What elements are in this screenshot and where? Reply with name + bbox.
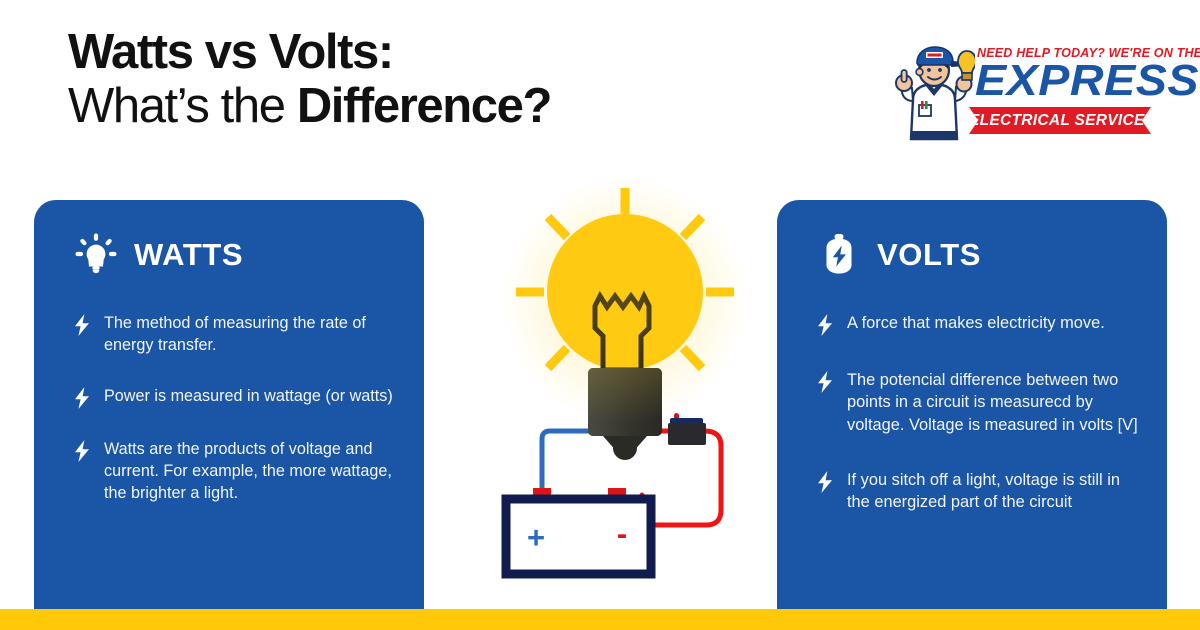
- panel-volts-header: VOLTS: [817, 232, 981, 276]
- title-line-2: What’s the Difference?: [68, 82, 728, 132]
- bolt-icon: [815, 371, 835, 393]
- list-item: The potencial difference between two poi…: [815, 369, 1145, 436]
- panel-watts-bullets: The method of measuring the rate of ener…: [72, 312, 402, 533]
- list-item-text: The potencial difference between two poi…: [847, 369, 1145, 436]
- switch: [668, 413, 706, 445]
- logo-brand-name: EXPRESS: [975, 59, 1199, 103]
- panel-volts-bullets: A force that makes electricity move. The…: [815, 312, 1145, 547]
- list-item: If you sitch off a light, voltage is sti…: [815, 469, 1145, 514]
- list-item: Power is measured in wattage (or watts): [72, 385, 402, 409]
- battery-minus-label: -: [617, 516, 627, 551]
- panel-volts-title: VOLTS: [877, 239, 981, 270]
- list-item-text: The method of measuring the rate of ener…: [104, 312, 402, 356]
- logo-ribbon: ELECTRICAL SERVICES: [969, 107, 1151, 134]
- list-item-text: Power is measured in wattage (or watts): [104, 385, 393, 407]
- bulb-glow: [500, 175, 750, 425]
- bolt-icon: [72, 440, 92, 462]
- lightbulb-circuit-illustration: + -: [440, 170, 770, 620]
- list-item: Watts are the products of voltage and cu…: [72, 438, 402, 504]
- bolt-icon: [72, 387, 92, 409]
- title-line-2-bold: Difference?: [297, 79, 551, 133]
- list-item-text: If you sitch off a light, voltage is sti…: [847, 469, 1145, 514]
- electrician-mascot-icon: [893, 43, 975, 143]
- bottom-accent-bar: [0, 609, 1200, 630]
- title-line-1: Watts vs Volts:: [68, 28, 728, 78]
- list-item-text: Watts are the products of voltage and cu…: [104, 438, 402, 504]
- panel-watts-title: WATTS: [134, 239, 243, 270]
- lightbulb-rays-icon: [74, 232, 118, 276]
- brand-logo[interactable]: NEED HELP TODAY? WE'RE ON THE WAY! EXPRE…: [893, 43, 1151, 143]
- infographic-canvas: Watts vs Volts: What’s the Difference?: [0, 0, 1200, 630]
- list-item: A force that makes electricity move.: [815, 312, 1145, 336]
- panel-volts: VOLTS A force that makes electricity mov…: [777, 200, 1167, 630]
- list-item-text: A force that makes electricity move.: [847, 312, 1105, 334]
- battery-plus-label: +: [527, 520, 545, 555]
- panel-watts-header: WATTS: [74, 232, 243, 276]
- bolt-icon: [815, 314, 835, 336]
- title-line-2-light: What’s the: [68, 79, 297, 133]
- page-title: Watts vs Volts: What’s the Difference?: [68, 28, 728, 132]
- logo-ribbon-text: ELECTRICAL SERVICES: [969, 107, 1151, 134]
- panel-watts: WATTS The method of measuring the rate o…: [34, 200, 424, 630]
- battery: + -: [506, 488, 651, 574]
- battery-bolt-icon: [817, 232, 861, 276]
- bolt-icon: [72, 314, 92, 336]
- bolt-icon: [815, 471, 835, 493]
- list-item: The method of measuring the rate of ener…: [72, 312, 402, 356]
